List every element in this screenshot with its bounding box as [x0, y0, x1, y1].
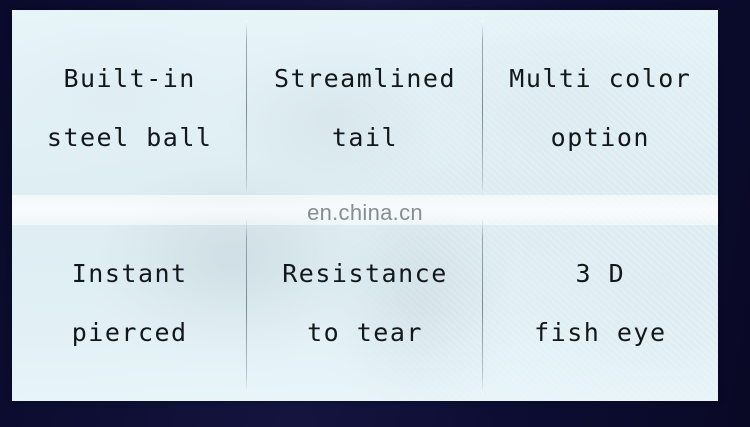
feature-cell-resistance-to-tear: Resistance to tear — [247, 206, 482, 402]
outer-frame: Built-in steel ball Streamlined tail Mul… — [0, 0, 750, 427]
feature-cell-3d-fish-eye: 3 D fish eye — [483, 206, 718, 402]
feature-line-2: pierced — [72, 320, 188, 345]
feature-line-2: tail — [332, 125, 398, 150]
feature-line-2: to tear — [307, 320, 423, 345]
feature-cell-multi-color-option: Multi color option — [483, 10, 718, 206]
feature-line-2: steel ball — [47, 125, 213, 150]
feature-cell-streamlined-tail: Streamlined tail — [247, 10, 482, 206]
site-watermark: en.china.cn — [12, 200, 718, 226]
feature-line-1: Resistance — [282, 261, 448, 286]
feature-line-1: Streamlined — [274, 66, 456, 91]
feature-line-2: option — [551, 125, 650, 150]
feature-cell-instant-pierced: Instant pierced — [12, 206, 247, 402]
feature-line-1: Instant — [72, 261, 188, 286]
feature-panel: Built-in steel ball Streamlined tail Mul… — [12, 10, 718, 401]
feature-line-1: 3 D — [575, 261, 625, 286]
feature-line-2: fish eye — [534, 320, 666, 345]
feature-line-1: Multi color — [509, 66, 691, 91]
feature-cell-built-in-steel-ball: Built-in steel ball — [12, 10, 247, 206]
feature-line-1: Built-in — [63, 66, 195, 91]
